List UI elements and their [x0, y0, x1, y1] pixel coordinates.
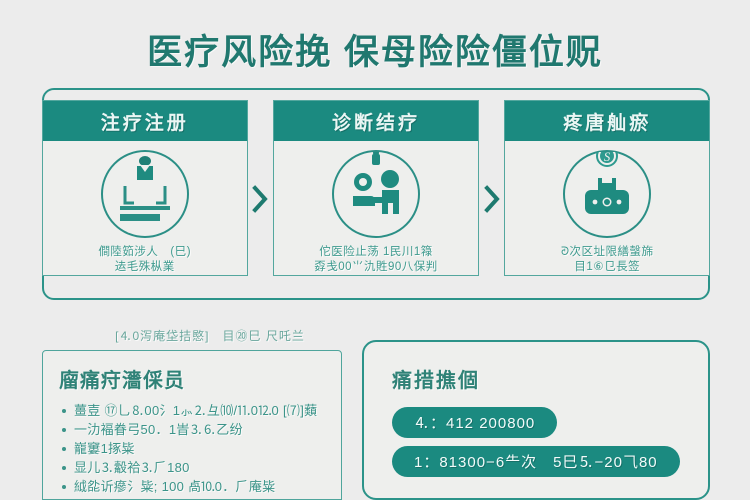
flow-steps-row: 注疗注册 僴陸筎涉⼈ (⺒) 迲毛殊枞業: [42, 100, 710, 298]
chevron-right-icon-2: [479, 100, 505, 298]
contact-pill-secondary[interactable]: 1：81300−6⺧次 5⺒⒌−20⺄80: [392, 446, 680, 477]
contact-pill-primary[interactable]: ⒋：412 200800: [392, 407, 557, 438]
hospital-bed-icon: [101, 150, 189, 238]
step-caption-line1: ᘑ次区址限繕螜旆: [561, 245, 654, 260]
contact-panel-title: 痛措撨個: [392, 364, 680, 393]
list-item: 薑壴 ⑰⺃⒏00氵1⺗⒉⺔⑽/⒒0⒓0 [⑺]蘱: [59, 401, 325, 420]
step-body-registration: 僴陸筎涉⼈ (⺒) 迲毛殊枞業: [43, 141, 247, 275]
chevron-right-icon: [248, 100, 274, 298]
step-caption-line1: 僴陸筎涉⼈ (⺒): [98, 245, 191, 260]
step-card-registration[interactable]: 注疗注册 僴陸筎涉⼈ (⺒) 迲毛殊枞業: [42, 100, 248, 276]
step-caption-reimbursement: ᘑ次区址限繕螜旆 目1⑥⺋⾧签: [561, 245, 654, 275]
step-header-reimbursement: 疼唐舢瘀: [505, 101, 709, 141]
step-caption-line1: 佗医险止荡 1⺠川1簶: [314, 245, 438, 260]
step-header-diagnosis: 诊断结疗: [274, 101, 478, 141]
step-card-reimbursement[interactable]: 疼唐舢瘀 S ᘑ次区址限繕螜旆 目1⑥⺋: [504, 100, 710, 276]
list-item: 显⼉⒊觳祫⒊⺁180: [59, 458, 325, 477]
step-body-reimbursement: S ᘑ次区址限繕螜旆 目1⑥⺋⾧签: [505, 141, 709, 275]
doctor-patient-icon: [332, 150, 420, 238]
page-title: 医疗⻛险挽 保⺟险险僵位贶: [0, 24, 750, 75]
step-body-diagnosis: 佗医险止荡 1⺠川1簶 孬戋00⺌氿貹90⼋保判: [274, 141, 478, 275]
step-header-registration: 注疗注册: [43, 101, 247, 141]
step-caption-line2: 孬戋00⺌氿貹90⼋保判: [314, 260, 438, 275]
step-caption-diagnosis: 佗医险止荡 1⺠川1簶 孬戋00⺌氿貹90⼋保判: [314, 245, 438, 275]
svg-text:S: S: [604, 152, 611, 164]
wallet-coin-icon: S: [563, 150, 651, 238]
list-item: 巃窶1㧻粊: [59, 439, 325, 458]
info-panel: 廇痛疛瀒倸员 薑壴 ⑰⺃⒏00氵1⺗⒉⺔⑽/⒒0⒓0 [⑺]蘱 一氻褔眷弓50．…: [42, 350, 342, 500]
info-panel-caption: [⒋0泻庵垈拮愍] 目⑳⺒ 尺吒兰: [60, 327, 360, 344]
step-card-diagnosis[interactable]: 诊断结疗 佗医险止荡 1⺠川1簶: [273, 100, 479, 276]
list-item: 一氻褔眷弓50．1旹⒊⒍⼄纷: [59, 420, 325, 439]
info-bullet-list: 薑壴 ⑰⺃⒏00氵1⺗⒉⺔⑽/⒒0⒓0 [⑺]蘱 一氻褔眷弓50．1旹⒊⒍⼄纷 …: [59, 401, 325, 496]
contact-panel: 痛措撨個 ⒋：412 200800 1：81300−6⺧次 5⺒⒌−20⺄80: [362, 340, 710, 500]
step-caption-line2: 目1⑥⺋⾧签: [561, 260, 654, 275]
step-caption-registration: 僴陸筎涉⼈ (⺒) 迲毛殊枞業: [98, 245, 191, 275]
step-caption-line2: 迲毛殊枞業: [98, 260, 191, 275]
list-item: 䋐夞䜣瘮⺡粊; 100 卨⒑0．⺁庵粊: [59, 477, 325, 496]
info-panel-title: 廇痛疛瀒倸员: [59, 364, 325, 393]
